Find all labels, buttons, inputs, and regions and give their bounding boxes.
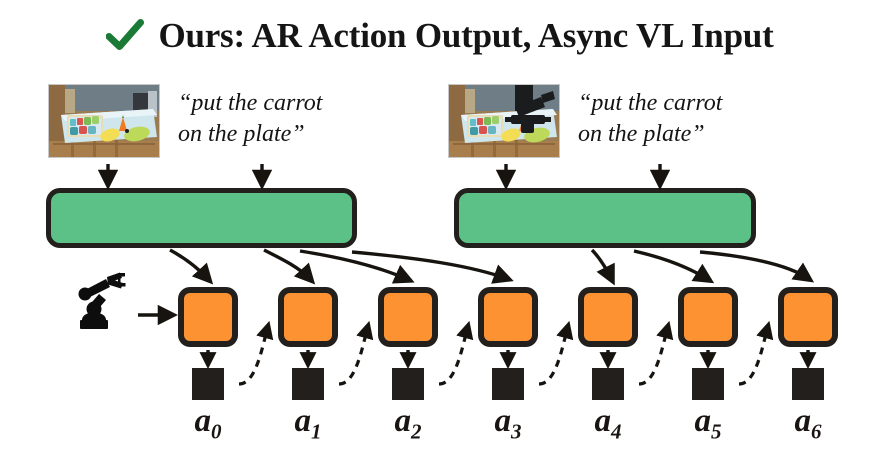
action-label-letter: a <box>195 403 212 439</box>
arrow-token-1-to-action-2 <box>339 326 368 384</box>
action-expert-3 <box>478 287 538 347</box>
action-expert-2 <box>378 287 438 347</box>
arrow-token-2-to-action-3 <box>439 326 468 384</box>
action-expert-5 <box>678 287 738 347</box>
action-label-letter: a <box>395 403 412 439</box>
action-label-index: 4 <box>611 420 622 444</box>
action-label-index: 2 <box>411 420 422 444</box>
action-label-letter: a <box>595 403 612 439</box>
action-expert-0 <box>178 287 238 347</box>
action-token-6 <box>792 368 824 400</box>
prompt-line-1: “put the carrot <box>178 88 322 119</box>
action-label-index: 6 <box>811 420 822 444</box>
prompt-line-2: on the plate” <box>578 119 722 150</box>
prompt-line-1: “put the carrot <box>578 88 722 119</box>
action-token-0 <box>192 368 224 400</box>
robot-arm-icon <box>68 272 130 330</box>
arrow-token-0-to-action-1 <box>239 326 268 384</box>
arrow-vlm2-to-action-4 <box>592 250 612 280</box>
action-label-5: a5 <box>678 403 738 445</box>
arrow-vlm1-to-action-2 <box>300 251 409 280</box>
action-label-letter: a <box>695 403 712 439</box>
action-label-3: a3 <box>478 403 538 445</box>
action-label-index: 5 <box>711 420 722 444</box>
page-title: Ours: AR Action Output, Async VL Input <box>158 16 773 56</box>
action-token-2 <box>392 368 424 400</box>
action-expert-6 <box>778 287 838 347</box>
action-expert-4 <box>578 287 638 347</box>
action-label-1: a1 <box>278 403 338 445</box>
action-token-5 <box>692 368 724 400</box>
action-expert-1 <box>278 287 338 347</box>
arrow-vlm2-to-action-5 <box>634 251 709 280</box>
prompt-text-2: “put the carrot on the plate” <box>578 88 722 149</box>
action-label-index: 1 <box>311 420 322 444</box>
action-token-3 <box>492 368 524 400</box>
action-label-0: a0 <box>178 403 238 445</box>
arrow-vlm2-to-action-6 <box>700 252 809 279</box>
action-label-index: 3 <box>511 420 522 444</box>
arrow-vlm1-to-action-1 <box>264 250 311 280</box>
arrow-token-5-to-action-6 <box>739 326 768 384</box>
diagram-title: Ours: AR Action Output, Async VL Input <box>0 16 880 56</box>
prompt-text-1: “put the carrot on the plate” <box>178 88 322 149</box>
check-icon <box>106 19 144 53</box>
action-label-4: a4 <box>578 403 638 445</box>
robot-scene-photo-2 <box>448 84 560 158</box>
action-label-letter: a <box>295 403 312 439</box>
arrow-vlm1-to-action-0 <box>170 250 209 280</box>
arrow-vlm1-to-action-3 <box>352 252 508 279</box>
arrow-token-3-to-action-4 <box>539 326 568 384</box>
action-label-6: a6 <box>778 403 838 445</box>
prompt-line-2: on the plate” <box>178 119 322 150</box>
vl-backbone-block-2 <box>454 188 756 248</box>
action-label-index: 0 <box>211 420 222 444</box>
action-label-letter: a <box>795 403 812 439</box>
action-token-4 <box>592 368 624 400</box>
action-label-letter: a <box>495 403 512 439</box>
robot-scene-photo-1 <box>48 84 160 158</box>
action-token-1 <box>292 368 324 400</box>
action-label-2: a2 <box>378 403 438 445</box>
diagram-canvas: Ours: AR Action Output, Async VL Input <box>0 0 880 467</box>
arrow-token-4-to-action-5 <box>639 326 668 384</box>
vl-backbone-block-1 <box>46 188 357 248</box>
